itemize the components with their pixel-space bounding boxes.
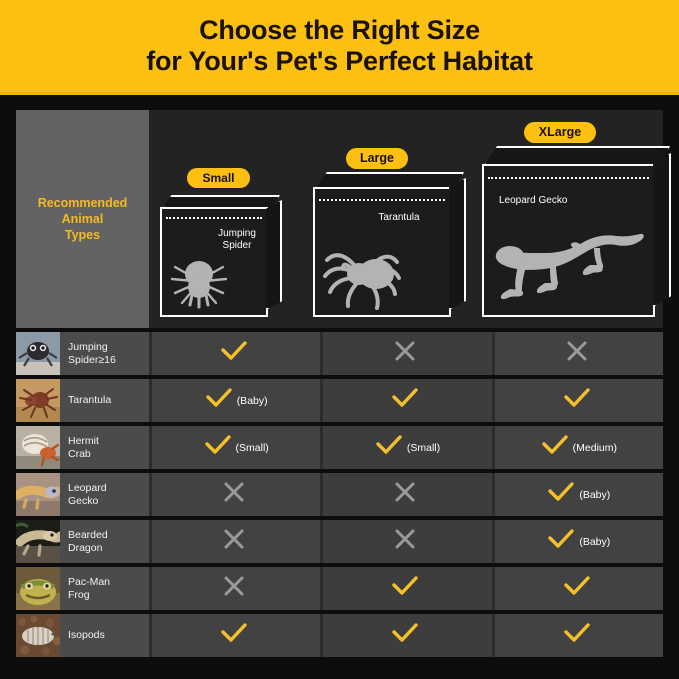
- jumping-spider-photo: [16, 332, 60, 375]
- infographic-page: Choose the Right Size for Your's Pet's P…: [0, 0, 679, 679]
- animal-name-line2: Gecko: [68, 495, 107, 508]
- animal-cell: Jumping Spider≥16: [16, 332, 149, 375]
- xlarge-compat-cell[interactable]: [492, 567, 663, 610]
- large-compat-cell[interactable]: [320, 567, 491, 610]
- small-compat-cell[interactable]: (Small): [149, 426, 320, 469]
- large-caption-line1: Tarantula: [359, 212, 439, 224]
- xlarge-compat-cell[interactable]: (Baby): [492, 520, 663, 563]
- large-compat-cell[interactable]: [320, 614, 491, 657]
- leopard-gecko-photo: [16, 473, 60, 516]
- animal-cell: Pac-Man Frog: [16, 567, 149, 610]
- xlarge-caption-line1: Leopard Gecko: [499, 195, 619, 207]
- check-icon: [563, 387, 591, 414]
- check-icon: [220, 340, 248, 367]
- animal-name-line1: Tarantula: [68, 394, 111, 407]
- large-tank-group: Large Tarantula: [301, 110, 481, 328]
- large-tank-caption: Tarantula: [359, 212, 439, 224]
- animal-cell: Tarantula: [16, 379, 149, 422]
- check-icon: [547, 481, 575, 508]
- header-banner: Choose the Right Size for Your's Pet's P…: [0, 0, 679, 92]
- large-compat-cell[interactable]: [320, 332, 491, 375]
- xlarge-compat-cell[interactable]: [492, 332, 663, 375]
- table-row[interactable]: Jumping Spider≥16: [16, 332, 663, 375]
- small-compat-cell[interactable]: (Baby): [149, 379, 320, 422]
- compat-note: (Small): [407, 442, 440, 454]
- xlarge-compat-cell[interactable]: (Medium): [492, 426, 663, 469]
- tarantula-photo: [16, 379, 60, 422]
- small-size-badge: Small: [187, 168, 250, 188]
- large-tank-side: [449, 178, 466, 310]
- animal-name-line1: Leopard: [68, 482, 107, 495]
- cross-icon: [222, 574, 246, 603]
- table-header-band: Recommended Animal Types Small Jumping S…: [16, 110, 663, 328]
- large-compat-cell[interactable]: [320, 473, 491, 516]
- animal-name-line2: Spider≥16: [68, 354, 116, 367]
- small-compat-cell[interactable]: [149, 520, 320, 563]
- animal-name-line2: Frog: [68, 589, 110, 602]
- small-compat-cell[interactable]: [149, 614, 320, 657]
- animal-name: Tarantula: [60, 394, 111, 407]
- animal-name-line2: Crab: [68, 448, 99, 461]
- size-comparison-table: Recommended Animal Types Small Jumping S…: [16, 110, 663, 662]
- animal-name-line1: Pac-Man: [68, 576, 110, 589]
- jumping-spider-silhouette: [169, 253, 229, 311]
- xlarge-tank-vents: [488, 177, 649, 179]
- large-compat-cell[interactable]: [320, 520, 491, 563]
- small-tank-group: Small Jumping Spider: [149, 110, 301, 328]
- xlarge-compat-cell[interactable]: [492, 614, 663, 657]
- animal-name: Bearded Dragon: [60, 529, 108, 554]
- leopard-gecko-silhouette: [488, 215, 648, 307]
- hermit-crab-photo: [16, 426, 60, 469]
- banner-title-line1: Choose the Right Size: [199, 15, 480, 46]
- header-label-line3: Types: [38, 227, 128, 243]
- cross-icon: [393, 480, 417, 509]
- check-icon: [205, 387, 233, 414]
- check-icon: [547, 528, 575, 555]
- table-row[interactable]: Isopods: [16, 614, 663, 657]
- cross-icon: [565, 339, 589, 368]
- animal-name-line2: Dragon: [68, 542, 108, 555]
- cross-icon: [222, 480, 246, 509]
- banner-title-line2: for Your's Pet's Perfect Habitat: [146, 46, 533, 77]
- xlarge-tank-lid: [484, 146, 670, 166]
- isopods-photo: [16, 614, 60, 657]
- cross-icon: [393, 339, 417, 368]
- xlarge-tank-caption: Leopard Gecko: [499, 195, 619, 207]
- check-icon: [563, 622, 591, 649]
- check-icon: [563, 575, 591, 602]
- small-tank-caption: Jumping Spider: [202, 228, 272, 252]
- header-label-text: Recommended Animal Types: [38, 195, 128, 243]
- header-label-cell: Recommended Animal Types: [16, 110, 149, 328]
- check-icon: [391, 622, 419, 649]
- animal-cell: Bearded Dragon: [16, 520, 149, 563]
- small-compat-cell[interactable]: [149, 473, 320, 516]
- table-row[interactable]: Leopard Gecko: [16, 473, 663, 516]
- xlarge-size-badge: XLarge: [524, 122, 596, 143]
- table-row[interactable]: Bearded Dragon: [16, 520, 663, 563]
- large-size-badge: Large: [346, 148, 408, 169]
- animal-name: Pac-Man Frog: [60, 576, 110, 601]
- animal-name: Jumping Spider≥16: [60, 341, 116, 366]
- animal-name-line1: Hermit: [68, 435, 99, 448]
- compat-note: (Small): [236, 442, 269, 454]
- compat-note: (Medium): [573, 442, 617, 454]
- tarantula-silhouette: [321, 238, 405, 314]
- check-icon: [204, 434, 232, 461]
- animal-cell: Isopods: [16, 614, 149, 657]
- xlarge-compat-cell[interactable]: (Baby): [492, 473, 663, 516]
- animal-name: Isopods: [60, 629, 105, 642]
- small-tank-side: [266, 200, 282, 310]
- check-icon: [541, 434, 569, 461]
- xlarge-tank-group: XLarge Leopard Gecko: [471, 110, 671, 328]
- pacman-frog-photo: [16, 567, 60, 610]
- xlarge-compat-cell[interactable]: [492, 379, 663, 422]
- animal-name-line1: Isopods: [68, 629, 105, 642]
- header-label-line1: Recommended: [38, 195, 128, 211]
- compat-note: (Baby): [579, 536, 610, 548]
- header-label-line2: Animal: [38, 211, 128, 227]
- animal-name-line1: Bearded: [68, 529, 108, 542]
- check-icon: [375, 434, 403, 461]
- small-compat-cell[interactable]: [149, 567, 320, 610]
- xlarge-tank-side: [653, 153, 671, 307]
- table-rows: Jumping Spider≥16: [16, 332, 663, 661]
- animal-cell: Leopard Gecko: [16, 473, 149, 516]
- large-tank-vents: [319, 199, 445, 201]
- cross-icon: [393, 527, 417, 556]
- check-icon: [391, 575, 419, 602]
- compat-note: (Baby): [237, 395, 268, 407]
- banner-underline: [0, 92, 679, 95]
- small-caption-line2: Spider: [202, 240, 272, 252]
- large-compat-cell[interactable]: [320, 379, 491, 422]
- check-icon: [220, 622, 248, 649]
- table-row[interactable]: Pac-Man Frog: [16, 567, 663, 610]
- check-icon: [391, 387, 419, 414]
- small-tank-vents: [166, 217, 262, 219]
- animal-cell: Hermit Crab: [16, 426, 149, 469]
- large-compat-cell[interactable]: (Small): [320, 426, 491, 469]
- small-compat-cell[interactable]: [149, 332, 320, 375]
- animal-name-line1: Jumping: [68, 341, 116, 354]
- table-row[interactable]: Hermit Crab (Small) (Small): [16, 426, 663, 469]
- animal-name: Leopard Gecko: [60, 482, 107, 507]
- compat-note: (Baby): [579, 489, 610, 501]
- cross-icon: [222, 527, 246, 556]
- table-row[interactable]: Tarantula (Baby): [16, 379, 663, 422]
- small-caption-line1: Jumping: [202, 228, 272, 240]
- animal-name: Hermit Crab: [60, 435, 99, 460]
- bearded-dragon-photo: [16, 520, 60, 563]
